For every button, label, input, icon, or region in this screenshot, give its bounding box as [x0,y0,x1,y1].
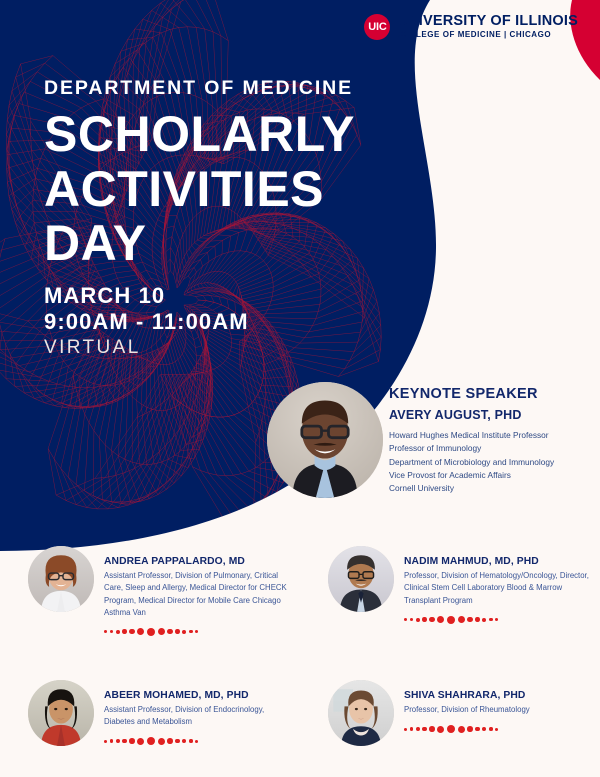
event-date: MARCH 10 [44,283,374,309]
keynote-info: KEYNOTE SPEAKER AVERY AUGUST, PHD Howard… [389,385,589,496]
title-line-1: SCHOLARLY [44,110,374,160]
speaker-card: SHIVA SHAHRARA, PHD Professor, Division … [300,674,600,747]
speaker-name: ANDREA PAPPALARDO, MD [104,555,289,568]
title-block: DEPARTMENT OF MEDICINE SCHOLARLY ACTIVIT… [44,78,374,360]
speaker-avatar [28,680,94,746]
speaker-name: ABEER MOHAMED, MD, PHD [104,689,289,702]
poster: UIC UNIVERSITY OF ILLINOIS COLLEGE OF ME… [0,0,600,777]
speaker-card: ABEER MOHAMED, MD, PHD Assistant Profess… [0,674,300,747]
logo-university-name: UNIVERSITY OF ILLINOIS [397,14,578,29]
title-line-2: ACTIVITIES [44,165,374,215]
speaker-title: Professor, Division of Rheumatology [404,704,589,716]
speaker-row: ANDREA PAPPALARDO, MD Assistant Professo… [0,540,600,637]
speaker-name: SHIVA SHAHRARA, PHD [404,689,589,702]
event-time: 9:00AM - 11:00AM [44,309,374,335]
speaker-card: ANDREA PAPPALARDO, MD Assistant Professo… [0,540,300,637]
keynote-role-label: KEYNOTE SPEAKER [389,385,589,404]
speaker-title: Professor, Division of Hematology/Oncolo… [404,570,589,606]
uic-logo: UIC UNIVERSITY OF ILLINOIS COLLEGE OF ME… [364,14,578,40]
speaker-title: Assistant Professor, Division of Pulmona… [104,570,289,618]
speaker-grid: ANDREA PAPPALARDO, MD Assistant Professo… [0,540,600,746]
dot-divider [404,724,589,734]
speaker-avatar [28,546,94,612]
speaker-card: NADIM MAHMUD, MD, PHD Professor, Divisio… [300,540,600,637]
keynote-avatar [267,382,383,498]
dot-divider [104,627,289,637]
uic-logo-mark: UIC [364,14,390,40]
keynote-affiliations: Howard Hughes Medical Institute Professo… [389,429,589,496]
logo-college-name: COLLEGE OF MEDICINE | CHICAGO [397,29,578,40]
speaker-name: NADIM MAHMUD, MD, PHD [404,555,589,568]
dot-divider [104,736,289,746]
speaker-avatar [328,680,394,746]
event-format: VIRTUAL [44,337,374,360]
speaker-avatar [328,546,394,612]
speaker-row: ABEER MOHAMED, MD, PHD Assistant Profess… [0,674,600,747]
speaker-title: Assistant Professor, Division of Endocri… [104,704,289,728]
keynote-speaker-name: AVERY AUGUST, PHD [389,407,589,424]
title-line-3: DAY [44,219,374,269]
dot-divider [404,615,589,625]
department-label: DEPARTMENT OF MEDICINE [44,78,374,99]
